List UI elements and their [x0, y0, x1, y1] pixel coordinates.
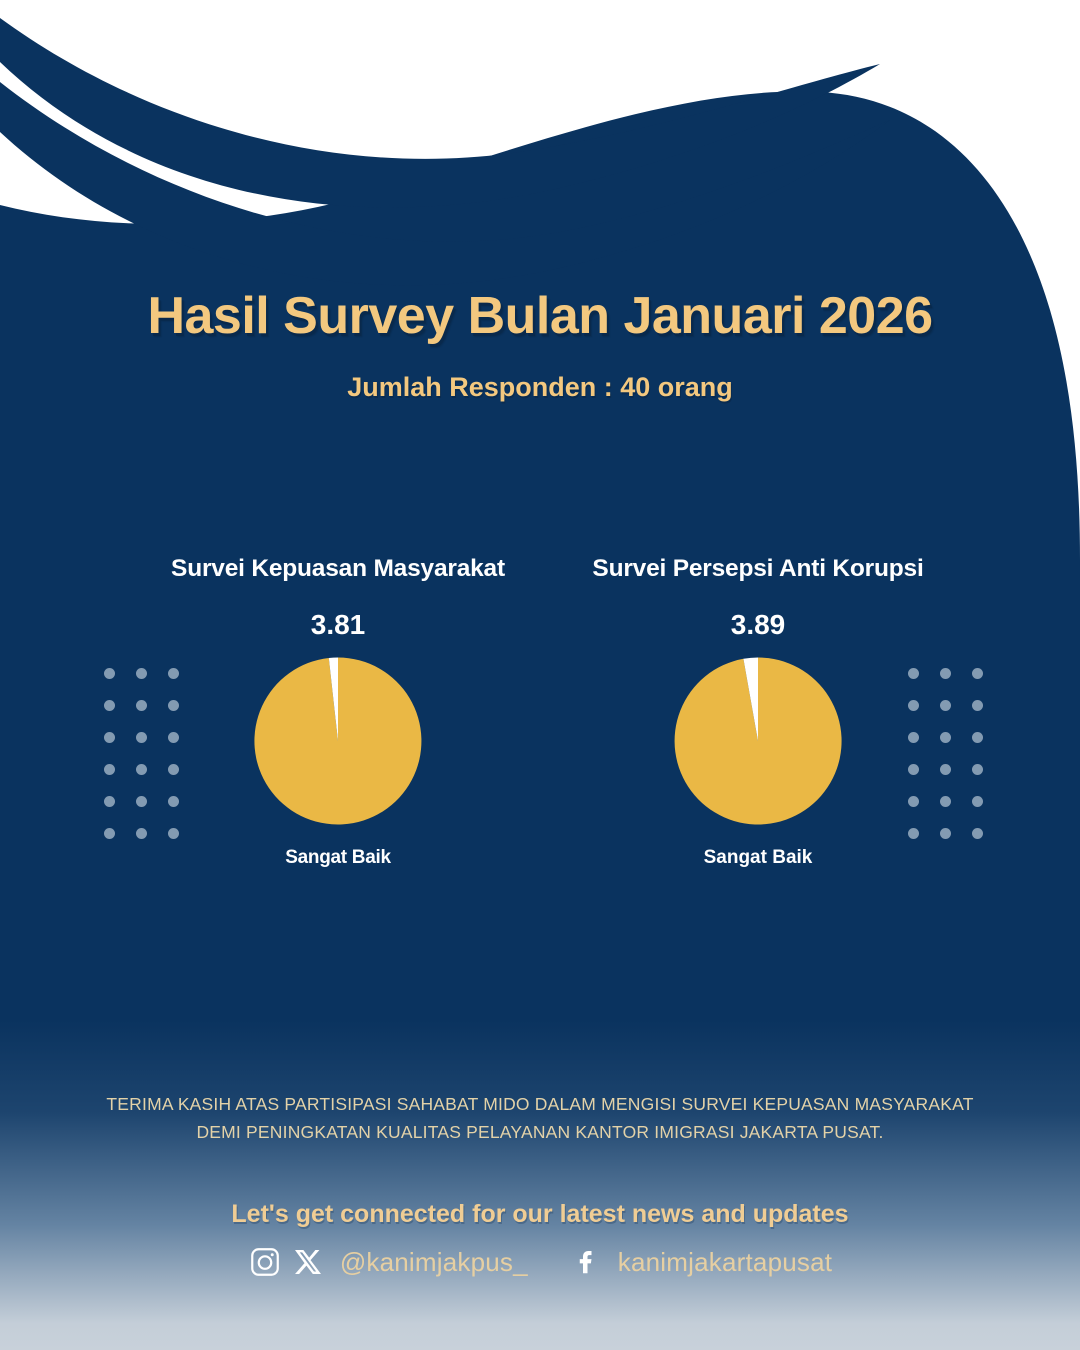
- thank-you-line-2: DEMI PENINGKATAN KUALITAS PELAYANAN KANT…: [80, 1118, 1000, 1146]
- connect-section: Let's get connected for our latest news …: [0, 1200, 1080, 1279]
- social-row: @kanimjakpus_ kanimjakartapusat: [0, 1245, 1080, 1279]
- x-twitter-icon[interactable]: [292, 1246, 324, 1278]
- facebook-group: kanimjakartapusat: [572, 1245, 832, 1279]
- connect-headline: Let's get connected for our latest news …: [0, 1200, 1080, 1229]
- pie-wrap: [128, 655, 548, 827]
- thank-you-text: TERIMA KASIH ATAS PARTISIPASI SAHABAT MI…: [80, 1090, 1000, 1147]
- charts-section: Survei Kepuasan Masyarakat 3.81 Sangat B…: [0, 555, 1080, 915]
- pie-chart-kepuasan: [252, 655, 424, 827]
- chart-score: 3.89: [548, 609, 968, 641]
- chart-score: 3.81: [128, 609, 548, 641]
- chart-title: Survei Persepsi Anti Korupsi: [548, 555, 968, 583]
- pie-chart-korupsi: [672, 655, 844, 827]
- pie-slice-sangat-baik: [675, 657, 842, 824]
- pie-wrap: [548, 655, 968, 827]
- respondent-count: Jumlah Responden : 40 orang: [0, 372, 1080, 403]
- thank-you-line-1: TERIMA KASIH ATAS PARTISIPASI SAHABAT MI…: [80, 1090, 1000, 1118]
- chart-block-korupsi: Survei Persepsi Anti Korupsi 3.89 Sangat…: [548, 555, 968, 869]
- chart-caption: Sangat Baik: [548, 847, 968, 869]
- chart-block-kepuasan: Survei Kepuasan Masyarakat 3.81 Sangat B…: [128, 555, 548, 869]
- instagram-icon[interactable]: [248, 1245, 282, 1279]
- header: Hasil Survey Bulan Januari 2026 Jumlah R…: [0, 286, 1080, 403]
- facebook-icon[interactable]: [572, 1245, 602, 1279]
- page-title: Hasil Survey Bulan Januari 2026: [0, 286, 1080, 346]
- facebook-handle[interactable]: kanimjakartapusat: [618, 1247, 832, 1278]
- chart-title: Survei Kepuasan Masyarakat: [128, 555, 548, 583]
- x-handle[interactable]: @kanimjakpus_: [340, 1247, 528, 1278]
- poster-canvas: Hasil Survey Bulan Januari 2026 Jumlah R…: [0, 0, 1080, 1350]
- chart-caption: Sangat Baik: [128, 847, 548, 869]
